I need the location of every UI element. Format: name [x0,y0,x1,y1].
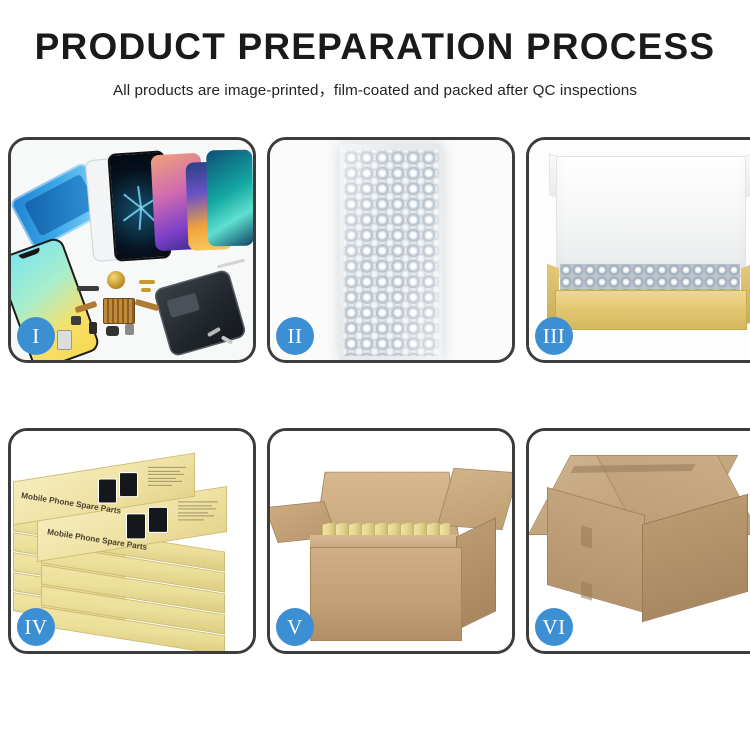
step-badge-2: II [276,317,314,355]
step-panel-6[interactable]: VI [526,428,750,654]
carton-tape-front-icon [581,525,592,548]
step-panel-5[interactable]: V [267,428,515,654]
bubble-wrapped-items-icon [560,264,740,292]
box-tray-front-icon [555,290,747,330]
carton-front-icon [310,547,462,641]
part-bracket-icon [57,330,72,350]
phone-teal-icon [206,150,253,247]
step-badge-6: VI [535,608,573,646]
box-lid-icon [556,156,746,278]
bubble-wrap-pouch-icon [340,144,443,360]
part-button-icon [89,322,97,334]
step-panel-1[interactable]: I [8,137,256,363]
part-speaker-coil-icon [107,271,125,289]
step-panel-2[interactable]: II [267,137,515,363]
part-sim-tray-icon [125,324,134,335]
step-badge-4: IV [17,608,55,646]
page-header: PRODUCT PREPARATION PROCESS All products… [0,0,750,100]
page-subtitle: All products are image-printed，film-coat… [0,78,750,100]
part-connector-icon [77,286,99,291]
step-badge-1: I [17,317,55,355]
page-title: PRODUCT PREPARATION PROCESS [0,28,750,67]
carton-side-icon [456,517,496,631]
part-gold-strip-icon [139,280,155,284]
part-camera-icon [71,316,81,325]
process-steps-grid: I II III [8,137,742,654]
step-panel-4[interactable]: Mobile Phone Spare Parts Mobile Phone Sp… [8,428,256,654]
part-chip-grid-icon [103,298,135,324]
carton-tape-front-2-icon [581,581,592,600]
part-gold-strip-2-icon [141,288,151,292]
part-module-icon [106,326,119,336]
step-panel-3[interactable]: III [526,137,750,363]
step-badge-5: V [276,608,314,646]
step-badge-3: III [535,317,573,355]
